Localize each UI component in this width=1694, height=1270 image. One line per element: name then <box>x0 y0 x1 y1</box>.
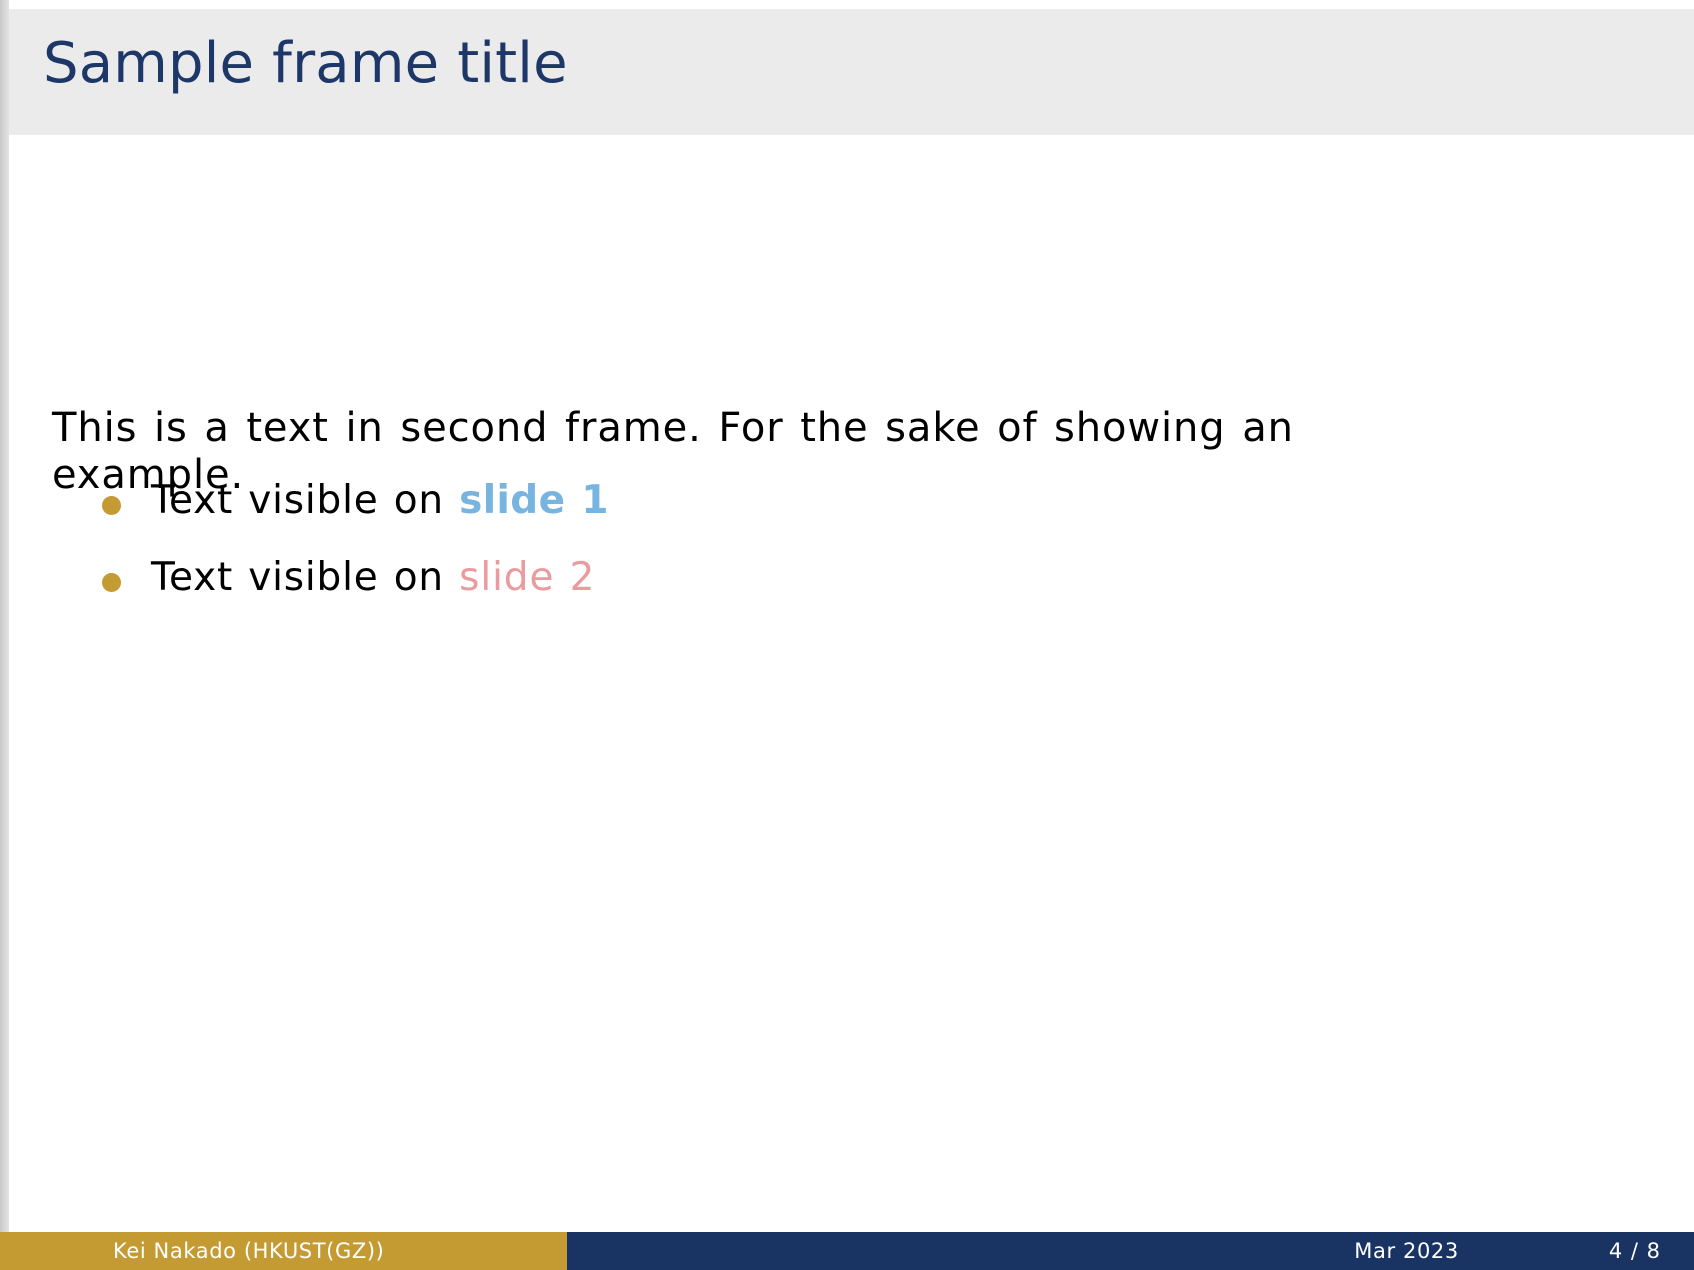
footer-meta-section: Mar 2023 4 / 8 <box>567 1232 1694 1270</box>
footer-date: Mar 2023 <box>1354 1239 1459 1263</box>
page-title: Sample frame title <box>43 31 568 96</box>
bullet-dot-icon <box>102 573 121 592</box>
footer-left-edge-strip <box>0 1232 9 1270</box>
presentation-slide: Sample frame title This is a text in sec… <box>0 0 1694 1270</box>
slide-body: This is a text in second frame. For the … <box>0 135 1694 1232</box>
list-item-text: Text visible on <box>151 478 459 523</box>
footer-page-number: 4 / 8 <box>1609 1239 1661 1263</box>
list-item-highlight: slide 1 <box>459 478 609 523</box>
list-item: Text visible on slide 1 <box>92 479 1392 524</box>
slide-title-bar: Sample frame title <box>9 9 1694 135</box>
list-item: Text visible on slide 2 <box>92 556 1392 601</box>
footer-author: Kei Nakado (HKUST(GZ)) <box>113 1239 384 1263</box>
bullet-list: Text visible on slide 1 Text visible on … <box>92 479 1392 633</box>
bullet-dot-icon <box>102 496 121 515</box>
list-item-highlight: slide 2 <box>459 555 595 600</box>
slide-footer: Kei Nakado (HKUST(GZ)) Mar 2023 4 / 8 <box>0 1232 1694 1270</box>
footer-author-section: Kei Nakado (HKUST(GZ)) <box>0 1232 567 1270</box>
list-item-text: Text visible on <box>151 555 459 600</box>
